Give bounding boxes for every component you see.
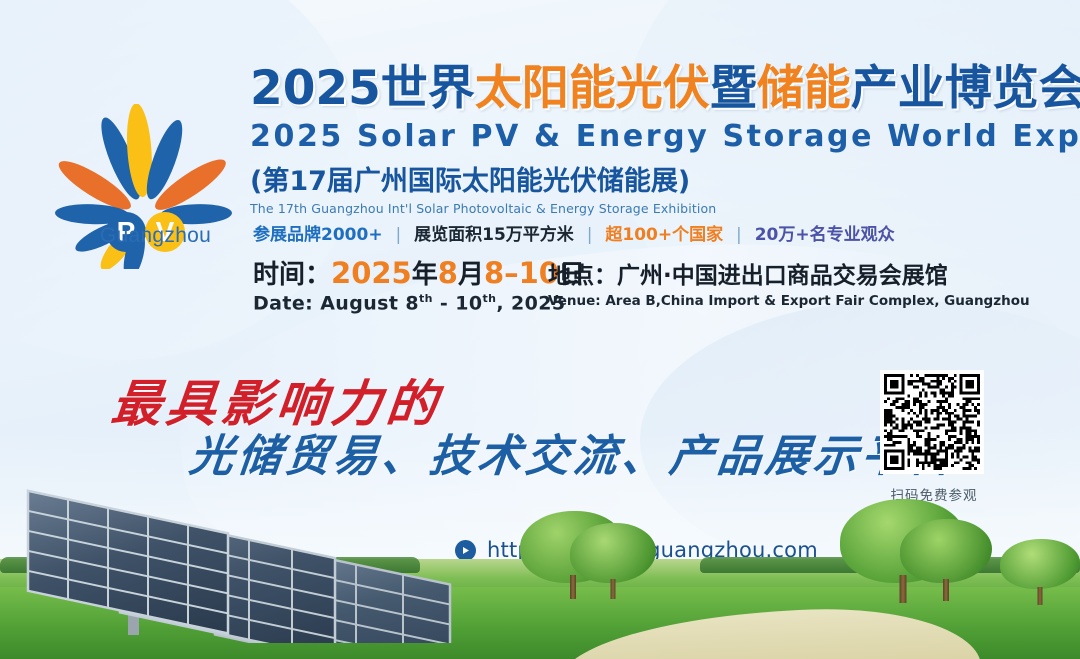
date-year-unit: 年 xyxy=(412,260,438,290)
venue-block: 地点：广州·中国进出口商品交易会展馆 Venue: Area B,China I… xyxy=(548,262,1030,309)
logo-wordmark: Guangzhou xyxy=(68,224,243,248)
venue-english: Venue: Area B,China Import & Export Fair… xyxy=(548,293,1030,309)
tree-2 xyxy=(570,523,656,597)
title-english: 2025 Solar PV & Energy Storage World Exp… xyxy=(250,119,1040,154)
landscape-scene xyxy=(0,484,1080,659)
date-block: 时间：2025年8月8–10日 Date: August 8th - 10th,… xyxy=(253,258,585,314)
pv-guangzhou-logo: P V Guangzhou xyxy=(48,104,238,269)
date-en-month: August xyxy=(320,292,398,314)
date-year: 2025 xyxy=(331,256,412,290)
date-en-day2: 10 xyxy=(455,292,482,314)
stat-countries: 超100+个国家 xyxy=(605,225,723,245)
date-month: 8 xyxy=(438,256,458,290)
solar-panel-array xyxy=(10,484,470,643)
stat-separator-1: | xyxy=(395,225,401,245)
date-en-dash: - xyxy=(440,292,448,314)
date-label-en: Date: xyxy=(253,292,313,314)
title-part-5: 产业博览会 xyxy=(851,61,1080,116)
date-en-day1: 8 xyxy=(405,292,419,314)
stat-brands: 参展品牌2000+ xyxy=(253,225,383,245)
slogan-line-2: 光储贸易、技术交流、产品展示平台! xyxy=(187,420,985,484)
venue-chinese: 地点：广州·中国进出口商品交易会展馆 xyxy=(548,262,1030,290)
date-label-cn: 时间： xyxy=(253,260,331,290)
stat-visitors: 20万+名专业观众 xyxy=(755,225,895,245)
expo-poster: P V Guangzhou 2025世界太阳能光伏暨储能产业博览会 2025 S… xyxy=(0,0,1080,659)
tree-4 xyxy=(900,519,992,599)
title-part-3: 暨 xyxy=(710,61,757,116)
date-chinese: 时间：2025年8月8–10日 xyxy=(253,258,585,290)
stat-separator-3: | xyxy=(736,225,742,245)
title-part-2: 太阳能光伏 xyxy=(475,61,710,116)
stat-area: 展览面积15万平方米 xyxy=(414,225,574,245)
title-chinese: 2025世界太阳能光伏暨储能产业博览会 xyxy=(250,62,1040,116)
qr-code-image xyxy=(880,370,984,474)
subtitle-english: The 17th Guangzhou Int'l Solar Photovolt… xyxy=(250,201,1040,216)
tree-5 xyxy=(1000,539,1080,603)
date-en-day2-sup: th xyxy=(482,292,496,305)
stats-strip: 参展品牌2000+ | 展览面积15万平方米 | 超100+个国家 | 20万+… xyxy=(253,220,895,245)
date-english: Date: August 8th - 10th, 2025 xyxy=(253,292,585,314)
date-en-day1-sup: th xyxy=(419,292,433,305)
venue-label-cn: 地点： xyxy=(548,263,617,289)
title-part-4: 储能 xyxy=(757,61,851,116)
stat-separator-2: | xyxy=(587,225,593,245)
title-part-1: 2025世界 xyxy=(250,61,475,116)
subtitle-chinese: (第17届广州国际太阳能光伏储能展) xyxy=(250,159,1040,198)
headline-block: 2025世界太阳能光伏暨储能产业博览会 2025 Solar PV & Ener… xyxy=(250,62,1040,216)
date-month-unit: 月 xyxy=(458,260,484,290)
venue-value-cn: 广州·中国进出口商品交易会展馆 xyxy=(617,263,948,289)
